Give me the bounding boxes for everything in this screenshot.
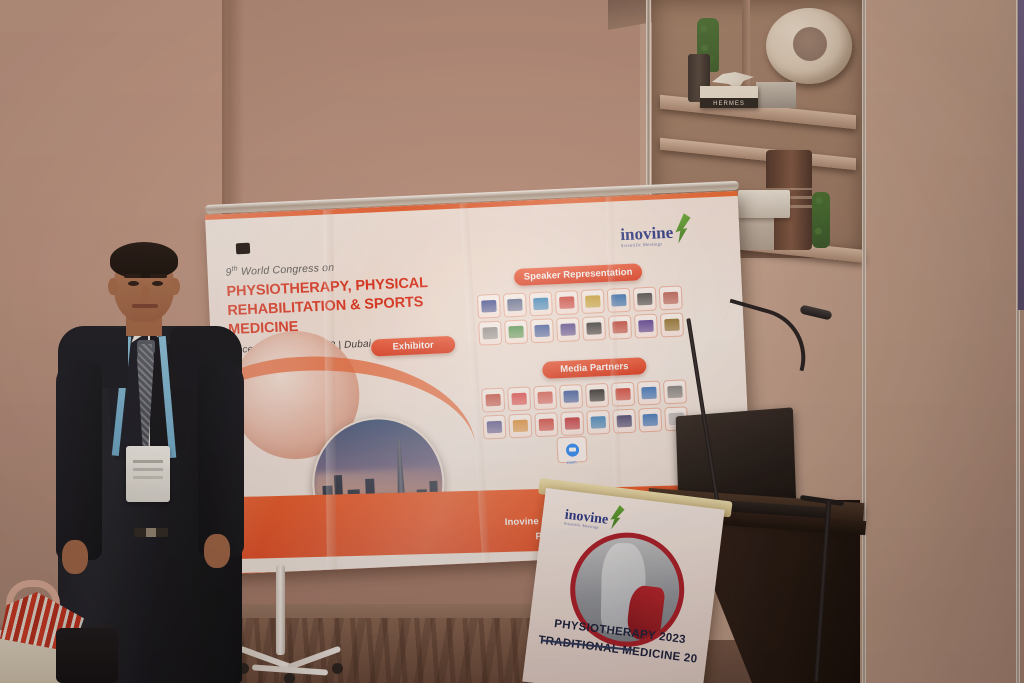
- sponsor-logo-cell: [660, 312, 684, 337]
- sponsor-logo-cell: [503, 293, 527, 318]
- name-badge: [126, 446, 170, 502]
- sponsor-logo-cell: [508, 413, 532, 438]
- conference-photo-scene: HERMES 9th World Congress on PHYSIOTHERA…: [0, 0, 1024, 683]
- media-partners-header: Media Partners: [542, 357, 647, 379]
- sponsor-logo-cell: [659, 285, 683, 310]
- sponsor-logo-cell: [481, 388, 505, 413]
- media-logo-grid: [481, 379, 688, 439]
- logo-7-icon: [637, 293, 653, 306]
- media-3-icon: [537, 391, 553, 404]
- podium-sign: inovine Scientific Meetings PHYSIOTHERAP…: [522, 488, 724, 683]
- banner-stand-base: [238, 645, 342, 675]
- sponsor-logo-cell: [582, 316, 606, 341]
- sponsor-logo-cell: [504, 319, 528, 344]
- sponsor-logo-cell: [533, 385, 557, 410]
- grey-box-decor: [756, 82, 796, 108]
- logo-9-icon: [482, 327, 498, 340]
- logo-5-icon: [585, 295, 601, 308]
- sponsor-logo-cell: [559, 384, 583, 409]
- logo-1-icon: [481, 300, 497, 313]
- media-5-icon: [589, 389, 605, 402]
- sponsor-logo-cell: [556, 317, 580, 342]
- media-4-icon: [563, 390, 579, 403]
- logo-14-icon: [612, 321, 628, 334]
- eye-left: [128, 281, 139, 286]
- hand-right: [204, 534, 230, 568]
- sponsor-logo-cell: [478, 321, 502, 346]
- logo-15-icon: [638, 320, 654, 333]
- zoom-logo-label: zoom: [557, 459, 585, 465]
- banner-title: PHYSIOTHERAPY, PHYSICAL REHABILITATION &…: [226, 271, 478, 340]
- media-7-icon: [641, 387, 657, 400]
- sponsor-logo-cell: [534, 412, 558, 437]
- ear-left: [108, 278, 118, 295]
- sponsor-logo-cell: [529, 291, 553, 316]
- eyebrow-left: [124, 274, 141, 278]
- speaker-logo-grid: [477, 285, 684, 345]
- chair: [56, 628, 118, 683]
- media-8-icon: [667, 386, 683, 399]
- hand-left: [62, 540, 88, 574]
- banner-stand-pole: [276, 565, 285, 655]
- logo-13-icon: [586, 322, 602, 335]
- media-10-icon: [513, 420, 529, 433]
- logo-16-icon: [664, 319, 680, 332]
- media-14-icon: [616, 415, 632, 428]
- podium-inovine-swoosh-icon: [608, 504, 625, 531]
- media-1-icon: [485, 394, 501, 407]
- sponsor-logo-cell: [555, 290, 579, 315]
- media-6-icon: [615, 388, 631, 401]
- logo-4-icon: [559, 296, 575, 309]
- inovine-swoosh-icon: [673, 213, 691, 244]
- sponsor-logo-cell: [560, 411, 584, 436]
- logo-2-icon: [507, 299, 523, 312]
- sponsor-logo-cell: [586, 410, 610, 435]
- sponsor-logo-cell: [482, 415, 506, 440]
- banner-eyebrow-text: World Congress on: [241, 262, 335, 278]
- far-right-edge: [1018, 0, 1024, 310]
- hermes-book-label: HERMES: [700, 101, 758, 107]
- belt-buckle: [146, 528, 156, 537]
- wall-chrome-trim-left: [862, 0, 866, 683]
- media-2-icon: [511, 393, 527, 406]
- logo-12-icon: [560, 323, 576, 336]
- logo-10-icon: [508, 326, 524, 339]
- arm-right: [198, 360, 244, 556]
- media-15-icon: [642, 414, 658, 427]
- sponsor-logo-cell: [634, 314, 658, 339]
- logo-3-icon: [533, 298, 549, 311]
- ring-sculpture-hole: [793, 27, 827, 61]
- nose: [141, 286, 149, 301]
- media-13-icon: [590, 416, 606, 429]
- media-9-icon: [487, 421, 503, 434]
- sponsor-logo-cell: [638, 408, 662, 433]
- media-12-icon: [565, 417, 581, 430]
- sponsor-logo-cell: [477, 294, 501, 319]
- exhibitor-badge: Exhibitor: [371, 336, 456, 357]
- hair: [110, 242, 178, 278]
- sponsor-logo-cell: [611, 382, 635, 407]
- stand-wheel: [284, 673, 295, 683]
- podium-sign-inovine-logo: inovine Scientific Meetings: [564, 499, 625, 533]
- inovine-wordmark: inovine: [620, 225, 674, 244]
- media-11-icon: [539, 418, 555, 431]
- sponsor-logo-cell: [530, 318, 554, 343]
- sponsor-logo-cell: [507, 386, 531, 411]
- potted-plant-lower: [812, 192, 830, 248]
- logo-11-icon: [534, 325, 550, 338]
- mouth: [132, 304, 158, 308]
- male-attendee: [52, 240, 248, 683]
- sponsor-logo-cell: [585, 383, 609, 408]
- speaker-representation-header: Speaker Representation: [514, 263, 643, 286]
- eye-right: [152, 281, 163, 286]
- logo-6-icon: [611, 294, 627, 307]
- sponsor-logo-cell: [633, 287, 657, 312]
- eyebrow-right: [150, 274, 167, 278]
- wall-mounted-unit: [738, 190, 790, 218]
- sponsor-logo-cell: [637, 381, 661, 406]
- arm-left: [56, 360, 102, 560]
- ear-right: [170, 278, 180, 295]
- logo-8-icon: [663, 292, 679, 305]
- sponsor-logo-cell: [608, 315, 632, 340]
- sponsor-logo-cell: [581, 289, 605, 314]
- zoom-icon: [565, 443, 579, 457]
- sponsor-logo-cell: [663, 379, 687, 404]
- banner-inovine-logo: inovine Scientific Meetings: [619, 213, 691, 248]
- sponsor-logo-cell: [607, 288, 631, 313]
- sponsor-logo-cell: [612, 409, 636, 434]
- hermes-book: HERMES: [700, 86, 758, 108]
- stand-wheel: [332, 663, 343, 674]
